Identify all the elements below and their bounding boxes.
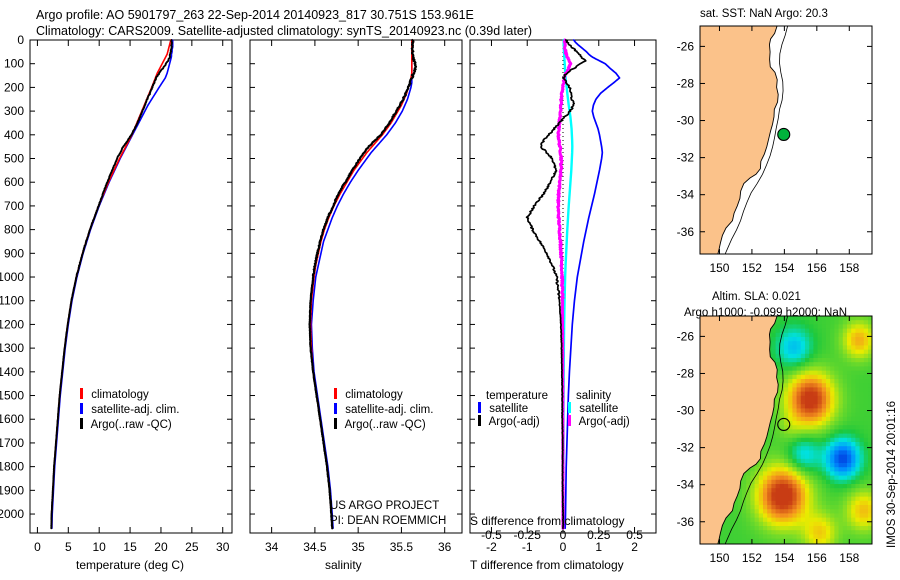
salinity-axis-label: salinity (325, 558, 362, 572)
plot-frame (250, 40, 462, 533)
depth-tick-label: 700 (4, 199, 24, 213)
legend-item-sal-satellite: satellite (568, 402, 630, 415)
legend-swatch-satellite-icon (80, 403, 83, 414)
x-tick-label: 25 (185, 540, 199, 554)
legend-label-climatology: climatology (91, 389, 149, 401)
x-tick-label: 20 (154, 540, 168, 554)
depth-tick-label: 1900 (0, 483, 24, 497)
legend-swatch-sal-argo-icon (568, 415, 571, 426)
credit-line1: US ARGO PROJECT (330, 500, 439, 512)
lat-tick-label: -30 (677, 114, 695, 128)
difference-legend-salinity-group: salinity satellite Argo(-adj) (568, 390, 630, 428)
depth-tick-label: 1700 (0, 436, 24, 450)
legend-header-salinity: salinity (568, 390, 630, 402)
legend-item-satellite-adj: satellite-adj. clim. (80, 403, 179, 416)
depth-tick-label: 1600 (0, 412, 24, 426)
legend-swatch-climatology-icon (80, 388, 83, 399)
x-tick-label: 30 (216, 540, 230, 554)
difference-panel: -2-1012 (460, 0, 670, 580)
salinity-panel: 3434.53535.536 (240, 0, 470, 580)
lon-tick-label: 158 (839, 261, 859, 275)
t-diff-tick-label: 1 (595, 540, 602, 554)
legend-item-satellite-adj-sal: satellite-adj. clim. (334, 403, 433, 416)
temperature-plot: 0100200300400500600700800900100011001200… (0, 0, 250, 580)
lon-tick-label: 156 (807, 261, 827, 275)
legend-item-climatology: climatology (80, 388, 179, 401)
sla-map: 150152154156158-26-28-30-32-34-36 (660, 290, 900, 580)
t-diff-tick-label: -2 (486, 540, 497, 554)
lon-tick-label: 152 (742, 551, 762, 565)
lon-tick-label: 156 (807, 551, 827, 565)
x-tick-label: 5 (65, 540, 72, 554)
s-diff-tick-label: 0.25 (583, 528, 615, 542)
difference-legend-temperature-group: temperature satellite Argo(-adj) (478, 390, 548, 428)
legend-swatch-temp-argo-icon (478, 415, 481, 426)
s-diff-tick-label: -0.25 (511, 528, 543, 542)
temperature-axis-label: temperature (deg C) (76, 558, 184, 572)
lon-tick-label: 150 (709, 551, 729, 565)
s-diff-tick-label: -0.5 (475, 528, 507, 542)
legend-label-sal-satellite: satellite (579, 403, 618, 415)
depth-tick-label: 1400 (0, 365, 24, 379)
depth-tick-label: 1300 (0, 341, 24, 355)
depth-tick-label: 0 (17, 33, 24, 47)
legend-item-temp-satellite: satellite (478, 402, 548, 415)
t-diff-tick-label: 0 (560, 540, 567, 554)
legend-label-satellite-adj: satellite-adj. clim. (345, 404, 433, 416)
depth-tick-label: 900 (4, 246, 24, 260)
depth-tick-label: 100 (4, 57, 24, 71)
lat-tick-label: -32 (677, 151, 695, 165)
sla-map-plot: 150152154156158-26-28-30-32-34-36 (660, 290, 900, 580)
profile-location-marker (778, 128, 790, 140)
legend-item-sal-argo: Argo(-adj) (568, 415, 630, 428)
depth-tick-label: 800 (4, 223, 24, 237)
legend-label-sal-argo: Argo(-adj) (579, 416, 630, 428)
temperature-legend: climatology satellite-adj. clim. Argo(..… (80, 388, 179, 431)
x-tick-label: 35 (351, 540, 365, 554)
legend-swatch-climatology-icon (334, 388, 337, 399)
lon-tick-label: 154 (774, 261, 794, 275)
difference-legend: temperature satellite Argo(-adj) salinit… (478, 390, 630, 428)
legend-label-temp-argo: Argo(-adj) (489, 416, 540, 428)
depth-tick-label: 1800 (0, 460, 24, 474)
legend-item-argo: Argo(..raw -QC) (80, 418, 179, 431)
difference-bottom-axis-label: T difference from climatology (470, 558, 624, 572)
landmass (684, 7, 778, 272)
legend-label-temp-satellite: satellite (489, 403, 528, 415)
x-tick-label: 10 (93, 540, 107, 554)
legend-label-argo: Argo(..raw -QC) (91, 419, 172, 431)
depth-tick-label: 200 (4, 80, 24, 94)
sst-map: 150152154156158-26-28-30-32-34-36 (660, 0, 900, 290)
lat-tick-label: -32 (677, 441, 695, 455)
lat-tick-label: -36 (677, 225, 695, 239)
lon-tick-label: 158 (839, 551, 859, 565)
lat-tick-label: -28 (677, 366, 695, 380)
lat-tick-label: -34 (677, 188, 695, 202)
t-diff-tick-label: 2 (631, 540, 638, 554)
difference-plot: -2-1012 (460, 0, 670, 580)
depth-tick-label: 500 (4, 152, 24, 166)
s-diff-tick-label: 0.5 (619, 528, 651, 542)
legend-item-argo-sal: Argo(..raw -QC) (334, 418, 433, 431)
legend-header-temperature: temperature (478, 390, 548, 402)
lat-tick-label: -26 (677, 329, 695, 343)
figure-root: Argo profile: AO 5901797_263 22-Sep-2014… (0, 0, 900, 580)
temperature-panel: 0100200300400500600700800900100011001200… (0, 0, 250, 580)
depth-tick-label: 1500 (0, 389, 24, 403)
depth-tick-label: 2000 (0, 507, 24, 521)
lon-tick-label: 154 (774, 551, 794, 565)
x-tick-label: 15 (123, 540, 137, 554)
legend-swatch-temp-satellite-icon (478, 402, 481, 413)
legend-swatch-argo-icon (334, 418, 337, 429)
difference-top-axis-label: S difference from climatology (470, 514, 625, 528)
lat-tick-label: -36 (677, 515, 695, 529)
x-tick-label: 34 (265, 540, 279, 554)
lat-tick-label: -26 (677, 39, 695, 53)
legend-swatch-sal-satellite-icon (568, 402, 571, 413)
credit-line2: PI: DEAN ROEMMICH (330, 515, 446, 527)
x-tick-label: 36 (438, 540, 452, 554)
legend-label-climatology: climatology (345, 389, 403, 401)
lat-tick-label: -28 (677, 76, 695, 90)
depth-tick-label: 1000 (0, 270, 24, 284)
lat-tick-label: -34 (677, 478, 695, 492)
sst-map-plot: 150152154156158-26-28-30-32-34-36 (660, 0, 900, 290)
plot-frame (30, 40, 232, 533)
depth-tick-label: 600 (4, 175, 24, 189)
legend-label-satellite-adj: satellite-adj. clim. (91, 404, 179, 416)
legend-swatch-satellite-icon (334, 403, 337, 414)
imos-timestamp: IMOS 30-Sep-2014 20:01:16 (886, 401, 898, 548)
lat-tick-label: -30 (677, 404, 695, 418)
lon-tick-label: 152 (742, 261, 762, 275)
x-tick-label: 34.5 (303, 540, 327, 554)
salinity-plot: 3434.53535.536 (240, 0, 470, 580)
legend-item-climatology-sal: climatology (334, 388, 433, 401)
legend-label-argo: Argo(..raw -QC) (345, 419, 426, 431)
legend-item-temp-argo: Argo(-adj) (478, 415, 548, 428)
t-diff-tick-label: -1 (522, 540, 533, 554)
depth-tick-label: 300 (4, 104, 24, 118)
salinity-legend: climatology satellite-adj. clim. Argo(..… (334, 388, 433, 431)
x-tick-label: 0 (34, 540, 41, 554)
depth-tick-label: 1100 (0, 294, 24, 308)
depth-tick-label: 400 (4, 128, 24, 142)
x-tick-label: 35.5 (390, 540, 414, 554)
lon-tick-label: 150 (709, 261, 729, 275)
legend-swatch-argo-icon (80, 418, 83, 429)
s-diff-tick-label: 0 (547, 528, 579, 542)
depth-tick-label: 1200 (0, 317, 24, 331)
